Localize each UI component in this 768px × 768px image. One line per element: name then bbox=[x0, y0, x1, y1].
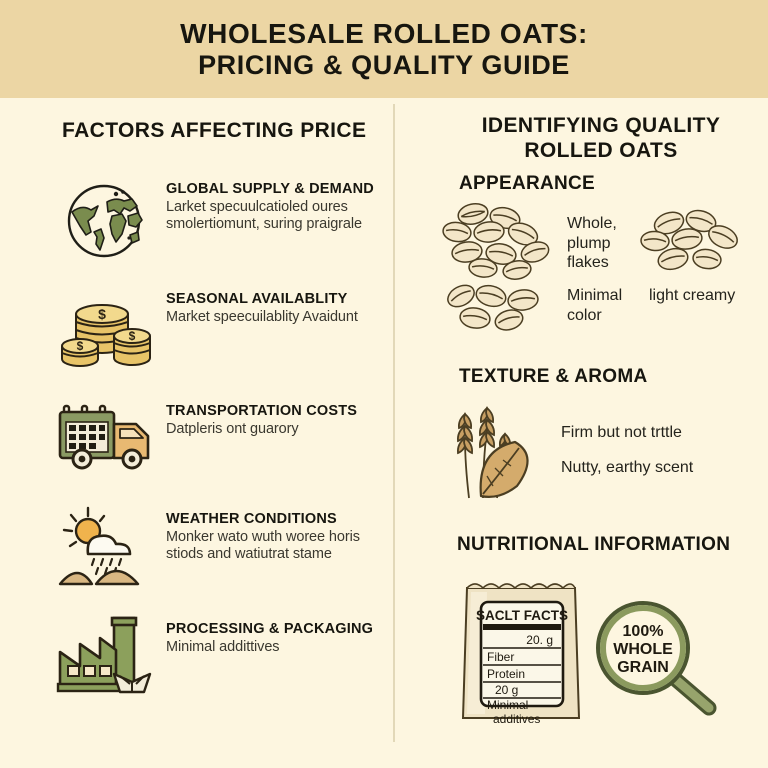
label-row-1: Fiber bbox=[487, 650, 514, 664]
appearance-label-line5: color bbox=[567, 306, 622, 326]
coin-stack-icon: $ $ bbox=[58, 288, 158, 372]
right-heading-line1: IDENTIFYING QUALITY bbox=[451, 113, 751, 138]
texture-subheading: TEXTURE & AROMA bbox=[459, 366, 648, 388]
page-title-line2: PRICING & QUALITY GUIDE bbox=[198, 50, 570, 81]
factor-text-processing: PROCESSING & PACKAGING Minimal addittive… bbox=[166, 620, 381, 656]
infographic-page: WHOLESALE ROLLED OATS: PRICING & QUALITY… bbox=[0, 0, 768, 768]
badge-line-2: WHOLE bbox=[613, 641, 673, 658]
appearance-label-line2: plump bbox=[567, 234, 617, 254]
badge-line-3: GRAIN bbox=[617, 659, 669, 676]
appearance-label-whole-plump-flakes: Whole, plump flakes bbox=[567, 214, 617, 273]
right-heading-line2: ROLLED OATS bbox=[451, 138, 751, 163]
factor-title: SEASONAL AVAILABLITY bbox=[166, 290, 381, 308]
factory-icon bbox=[58, 616, 158, 700]
left-column-heading: FACTORS AFFECTING PRICE bbox=[62, 118, 366, 143]
factor-text-weather: WEATHER CONDITIONS Monker wato wuth wore… bbox=[166, 510, 381, 563]
factor-title: TRANSPORTATION COSTS bbox=[166, 402, 381, 420]
appearance-label-light-creamy: light creamy bbox=[649, 286, 735, 306]
appearance-label-line1: Whole, bbox=[567, 214, 617, 234]
label-row-4: Minimal bbox=[487, 698, 528, 712]
label-title-text: SACLT FACTS bbox=[476, 608, 568, 623]
appearance-label-line4: Minimal bbox=[567, 286, 622, 306]
factor-text-transportation: TRANSPORTATION COSTS Datpleris ont guaro… bbox=[166, 402, 381, 438]
factor-text-global-supply: GLOBAL SUPPLY & DEMAND Larket specuulcat… bbox=[166, 180, 381, 233]
texture-line-2: Nutty, earthy scent bbox=[561, 458, 693, 478]
delivery-truck-icon bbox=[58, 396, 158, 480]
label-row-0: 20. g bbox=[526, 633, 553, 647]
wheat-leaf-icon bbox=[443, 398, 553, 503]
right-column-heading: IDENTIFYING QUALITY ROLLED OATS bbox=[451, 113, 751, 163]
factor-title: GLOBAL SUPPLY & DEMAND bbox=[166, 180, 381, 198]
appearance-subheading: APPEARANCE bbox=[459, 173, 595, 195]
page-title-line1: WHOLESALE ROLLED OATS: bbox=[180, 18, 588, 50]
weather-icon bbox=[58, 506, 158, 590]
factor-body: Larket specuulcatioled oures smolertiomu… bbox=[166, 199, 381, 233]
label-row-2: Protein bbox=[487, 667, 525, 681]
oat-flakes-cluster-small bbox=[439, 282, 551, 340]
factor-body: Minimal addittives bbox=[166, 639, 381, 656]
magnifier-icon: 100% WHOLE GRAIN bbox=[585, 596, 735, 721]
label-row-3: 20 g bbox=[495, 683, 518, 697]
svg-text:$: $ bbox=[77, 339, 84, 353]
badge-line-1: 100% bbox=[623, 623, 664, 640]
oat-flakes-cluster-large bbox=[443, 208, 561, 280]
label-row-5: additives bbox=[493, 712, 540, 726]
texture-line-1: Firm but not trttle bbox=[561, 423, 682, 443]
factor-text-seasonal-availability: SEASONAL AVAILABLITY Market speecuilabli… bbox=[166, 290, 381, 326]
right-column: IDENTIFYING QUALITY ROLLED OATS APPEARAN… bbox=[395, 98, 768, 768]
oat-package-icon: SACLT FACTS 20. g Fiber Protein 20 g Min… bbox=[455, 578, 587, 726]
factor-body: Market speecuilablity Avaidunt bbox=[166, 309, 381, 326]
left-column: FACTORS AFFECTING PRICE GLOBAL S bbox=[0, 98, 393, 768]
svg-text:$: $ bbox=[129, 329, 136, 343]
nutrition-subheading: NUTRITIONAL INFORMATION bbox=[457, 534, 730, 556]
factor-title: WEATHER CONDITIONS bbox=[166, 510, 381, 528]
globe-icon bbox=[58, 180, 158, 264]
factor-title: PROCESSING & PACKAGING bbox=[166, 620, 381, 638]
appearance-label-minimal-color: Minimal color bbox=[567, 286, 622, 325]
header-banner: WHOLESALE ROLLED OATS: PRICING & QUALITY… bbox=[0, 0, 768, 98]
factor-body: Datpleris ont guarory bbox=[166, 421, 381, 438]
svg-text:$: $ bbox=[98, 306, 106, 322]
appearance-label-line3: flakes bbox=[567, 253, 617, 273]
factor-body: Monker wato wuth woree horis stiods and … bbox=[166, 529, 381, 563]
oat-flakes-cluster-right bbox=[639, 213, 749, 275]
